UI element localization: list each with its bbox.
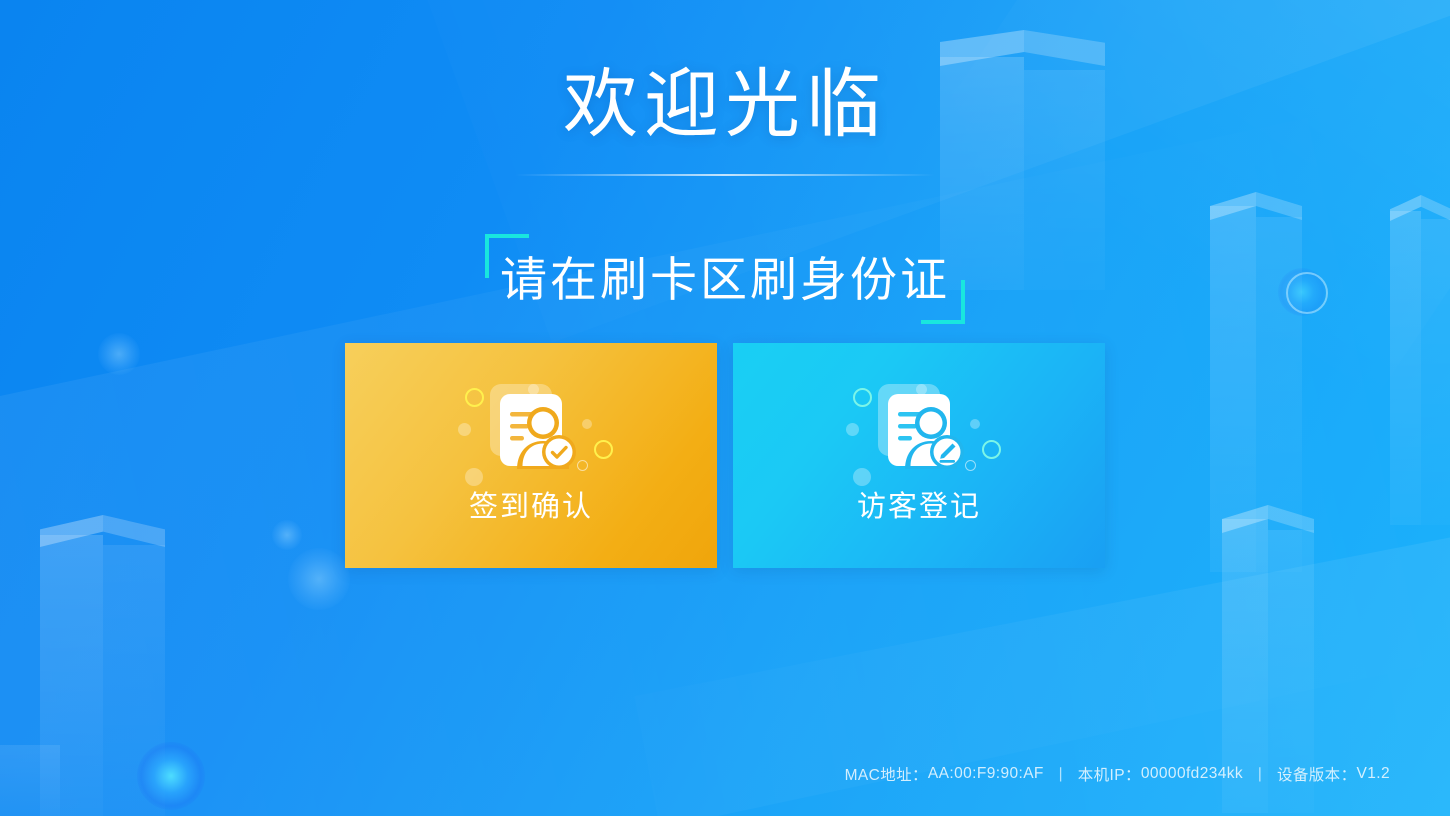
page-title: 欢迎光临: [0, 67, 1450, 142]
footer-separator-2: 丨: [1243, 763, 1277, 785]
ring-outline-right: [1286, 272, 1328, 314]
card-check-in-label: 签到确认: [345, 493, 717, 522]
action-card-group: 签到确认: [345, 343, 1105, 568]
prism-tower-left: [40, 515, 165, 816]
glow-orb-center-left: [288, 548, 350, 610]
prism-tower-far-right: [1390, 195, 1450, 525]
mac-value: AA:00:F9:90:AF: [928, 765, 1044, 783]
glow-orb-upper-left: [98, 333, 140, 375]
bubble-ring-2: [982, 440, 1001, 459]
card-visitor-register[interactable]: 访客登记: [733, 343, 1105, 568]
version-value: V1.2: [1357, 765, 1391, 783]
footer-separator-1: 丨: [1044, 763, 1078, 785]
ip-label: 本机IP：: [1078, 763, 1141, 785]
bubble-dot-2: [846, 423, 859, 436]
mac-label: MAC地址：: [845, 763, 928, 785]
glow-orb-bottom-left: [137, 742, 205, 810]
card-check-in[interactable]: 签到确认: [345, 343, 717, 568]
subtitle-instruction: 请在刷卡区刷身份证: [485, 234, 965, 324]
bubble-ring-2: [594, 440, 613, 459]
glow-orb-small-left: [272, 520, 302, 550]
version-label: 设备版本：: [1277, 763, 1357, 785]
title-divider: [515, 174, 935, 176]
bubble-dot-4: [853, 468, 871, 486]
bubble-dot-2: [458, 423, 471, 436]
prism-block-far-left: [0, 735, 60, 816]
bubble-ring-1: [853, 388, 872, 407]
ip-value: 00000fd234kk: [1141, 765, 1243, 783]
bubble-dot-3: [970, 419, 980, 429]
glow-orb-right: [1278, 268, 1326, 316]
card-visitor-register-label: 访客登记: [733, 493, 1105, 522]
bubble-dot-4: [465, 468, 483, 486]
id-card-person-check-icon: [483, 379, 579, 475]
welcome-kiosk-screen: 欢迎光临 请在刷卡区刷身份证: [0, 0, 1450, 816]
subtitle-container: 请在刷卡区刷身份证: [485, 234, 965, 324]
id-card-person-edit-icon: [871, 379, 967, 475]
prism-tower-right-upper: [1210, 192, 1302, 572]
bubble-dot-3: [582, 419, 592, 429]
device-info-footer: MAC地址： AA:00:F9:90:AF 丨 本机IP： 00000fd234…: [845, 763, 1390, 785]
bubble-ring-1: [465, 388, 484, 407]
